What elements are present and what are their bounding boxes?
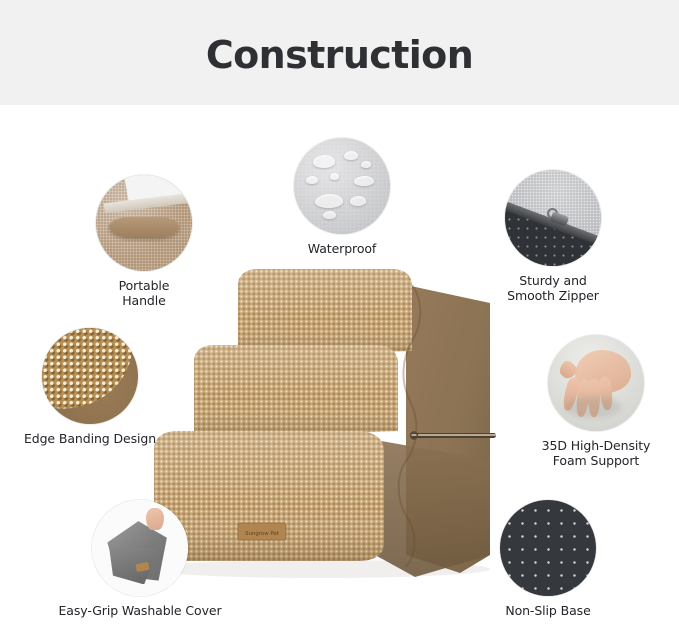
feature-caption: Portable Handle xyxy=(96,278,192,308)
svg-text:Sungrow Pet: Sungrow Pet xyxy=(245,531,279,537)
feature-waterproof: Waterproof xyxy=(294,138,390,256)
brand-label: Sungrow Pet xyxy=(238,523,286,540)
feature-non-slip-base: Non-Slip Base xyxy=(500,500,608,618)
feature-caption: Sturdy and Smooth Zipper xyxy=(486,273,620,303)
feature-caption: 35D High-Density Foam Support xyxy=(526,438,666,468)
portable-handle-icon xyxy=(96,175,192,271)
feature-caption: Edge Banding Design xyxy=(20,431,160,446)
infographic-page: Construction xyxy=(0,0,679,627)
washable-cover-icon xyxy=(92,500,188,596)
feature-sturdy-smooth-zipper: Sturdy and Smooth Zipper xyxy=(505,170,620,303)
hand-pressing-foam-icon xyxy=(548,335,644,431)
zipper-icon xyxy=(505,170,601,266)
water-droplets-icon xyxy=(294,138,390,234)
feature-caption: Non-Slip Base xyxy=(488,603,608,618)
feature-caption: Easy-Grip Washable Cover xyxy=(47,603,233,618)
dotted-base-icon xyxy=(500,500,596,596)
feature-portable-handle: Portable Handle xyxy=(96,175,192,308)
feature-caption: Waterproof xyxy=(294,241,390,256)
edge-banding-icon xyxy=(42,328,138,424)
zipper-detail xyxy=(410,432,496,439)
feature-easy-grip-washable-cover: Easy-Grip Washable Cover xyxy=(92,500,233,618)
feature-foam-support: 35D High-Density Foam Support xyxy=(548,335,666,468)
page-title: Construction xyxy=(0,33,679,77)
feature-edge-banding-design: Edge Banding Design xyxy=(42,328,160,446)
